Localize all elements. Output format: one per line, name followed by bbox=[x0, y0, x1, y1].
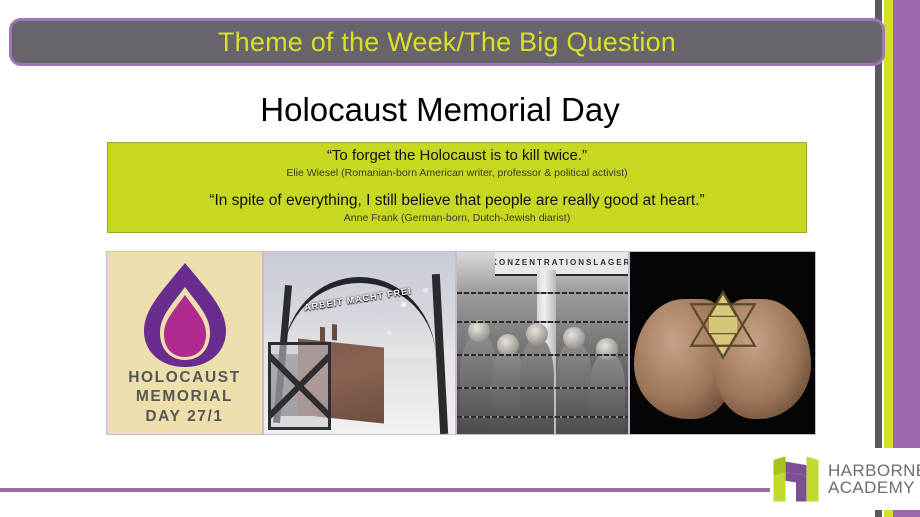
quote-spacer bbox=[108, 180, 806, 191]
star-of-david-icon bbox=[686, 288, 760, 362]
harborne-academy-logo: HARBORNE ACADEMY bbox=[770, 448, 920, 510]
hmd-caption: HOLOCAUST MEMORIAL DAY 27/1 bbox=[107, 368, 262, 426]
child-head bbox=[526, 323, 548, 345]
barbed-wire bbox=[457, 416, 628, 418]
child-head bbox=[596, 338, 618, 360]
edge-stripe-purple bbox=[893, 0, 920, 517]
page-title: Holocaust Memorial Day bbox=[0, 91, 880, 129]
logo-text-academy: ACADEMY bbox=[828, 479, 920, 496]
image-strip: HOLOCAUST MEMORIAL DAY 27/1 ARBEIT MACHT… bbox=[106, 251, 816, 435]
barbed-wire bbox=[457, 354, 628, 356]
logo-text-harborne: HARBORNE bbox=[828, 462, 920, 479]
image-hmd-logo: HOLOCAUST MEMORIAL DAY 27/1 bbox=[106, 251, 263, 435]
hmd-caption-line3: DAY 27/1 bbox=[107, 407, 262, 426]
hmd-caption-line2: MEMORIAL bbox=[107, 387, 262, 406]
barbed-wire bbox=[457, 292, 628, 294]
quote-2-attribution: Anne Frank (German-born, Dutch-Jewish di… bbox=[108, 212, 806, 226]
edge-stripe-gray bbox=[875, 0, 882, 517]
quote-1-text: “To forget the Holocaust is to kill twic… bbox=[108, 147, 806, 166]
quote-box: “To forget the Holocaust is to kill twic… bbox=[107, 142, 807, 233]
flame-icon bbox=[142, 261, 228, 369]
child-figure bbox=[590, 354, 624, 434]
harborne-h-monogram-icon bbox=[770, 453, 822, 505]
quote-2-text: “In spite of everything, I still believe… bbox=[108, 191, 806, 210]
title-banner: Theme of the Week/The Big Question bbox=[9, 18, 885, 66]
camp-sign: KONZENTRATIONSLAGER bbox=[495, 252, 628, 276]
barbed-wire bbox=[457, 387, 628, 389]
edge-stripe-lime bbox=[884, 0, 893, 517]
slide-canvas: Theme of the Week/The Big Question Holoc… bbox=[0, 0, 920, 517]
image-auschwitz-gate: ARBEIT MACHT FREI bbox=[263, 251, 456, 435]
image-child-survivors: KONZENTRATIONSLAGER bbox=[456, 251, 629, 435]
hmd-caption-line1: HOLOCAUST bbox=[107, 368, 262, 387]
quote-1-attribution: Elie Wiesel (Romanian-born American writ… bbox=[108, 167, 806, 181]
gate-iron-fence bbox=[268, 342, 331, 430]
child-head bbox=[563, 327, 585, 349]
bottom-divider-rule bbox=[0, 488, 878, 492]
barbed-wire bbox=[457, 321, 628, 323]
logo-wordmark: HARBORNE ACADEMY bbox=[828, 462, 920, 497]
image-yellow-star bbox=[629, 251, 816, 435]
banner-title-text: Theme of the Week/The Big Question bbox=[218, 29, 676, 56]
